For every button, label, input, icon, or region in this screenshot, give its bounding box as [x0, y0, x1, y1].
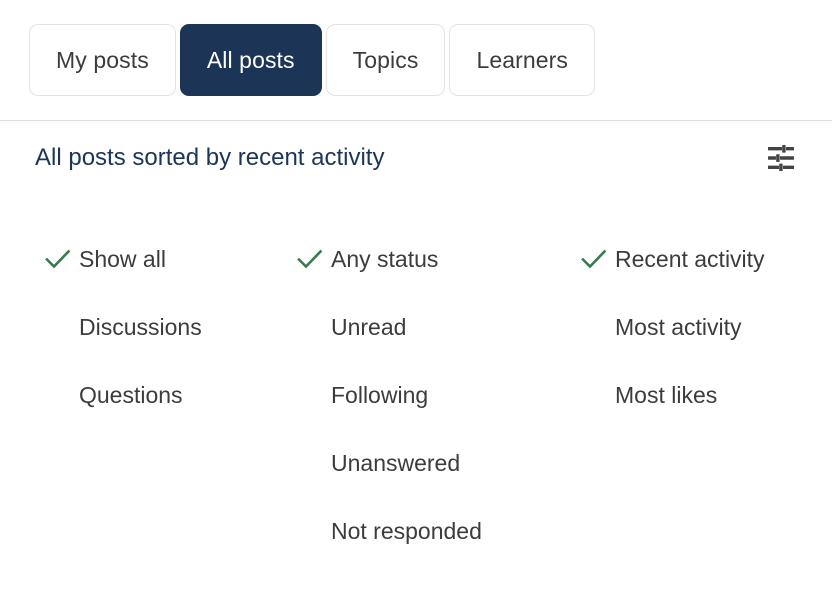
- tab-list: My postsAll postsTopicsLearners: [0, 0, 832, 96]
- filter-option-any-status[interactable]: Any status: [297, 225, 581, 293]
- tab-topics[interactable]: Topics: [326, 24, 446, 96]
- filter-option-label: Recent activity: [615, 248, 765, 271]
- check-icon: [45, 248, 79, 270]
- filter-panel-header: All posts sorted by recent activity: [0, 121, 832, 195]
- filter-option-label: Questions: [79, 384, 183, 407]
- tab-bar-divider: [0, 120, 832, 121]
- tab-my-posts[interactable]: My posts: [29, 24, 176, 96]
- check-icon: [581, 248, 615, 270]
- tab-learners[interactable]: Learners: [449, 24, 595, 96]
- filter-option-questions[interactable]: Questions: [45, 361, 297, 429]
- filter-column-post-type: Show allDiscussionsQuestions: [45, 225, 297, 565]
- filter-option-most-activity[interactable]: Most activity: [581, 293, 829, 361]
- filter-option-show-all[interactable]: Show all: [45, 225, 297, 293]
- tab-label: My posts: [56, 49, 149, 72]
- filter-column-sort: Recent activityMost activityMost likes: [581, 225, 829, 565]
- tab-all-posts[interactable]: All posts: [180, 24, 322, 96]
- filter-option-not-responded[interactable]: Not responded: [297, 497, 581, 565]
- filter-option-label: Unread: [331, 316, 406, 339]
- filter-option-following[interactable]: Following: [297, 361, 581, 429]
- filter-column-status: Any statusUnreadFollowingUnansweredNot r…: [297, 225, 581, 565]
- filter-option-most-likes[interactable]: Most likes: [581, 361, 829, 429]
- filter-option-label: Any status: [331, 248, 438, 271]
- filter-option-label: Discussions: [79, 316, 202, 339]
- filter-option-label: Unanswered: [331, 452, 460, 475]
- filter-option-label: Following: [331, 384, 428, 407]
- page-title: All posts sorted by recent activity: [35, 146, 384, 170]
- filter-option-discussions[interactable]: Discussions: [45, 293, 297, 361]
- filter-option-unanswered[interactable]: Unanswered: [297, 429, 581, 497]
- check-icon: [297, 248, 331, 270]
- tab-label: Topics: [353, 49, 419, 72]
- sliders-tune-icon[interactable]: [761, 138, 801, 178]
- filter-option-label: Most likes: [615, 384, 717, 407]
- filter-option-label: Not responded: [331, 520, 482, 543]
- filter-option-label: Show all: [79, 248, 166, 271]
- filter-option-recent-activity[interactable]: Recent activity: [581, 225, 829, 293]
- filter-options-grid: Show allDiscussionsQuestionsAny statusUn…: [0, 195, 832, 565]
- filter-option-unread[interactable]: Unread: [297, 293, 581, 361]
- tab-bar: My postsAll postsTopicsLearners: [0, 0, 832, 121]
- tab-label: Learners: [476, 49, 568, 72]
- tab-label: All posts: [207, 49, 295, 72]
- filter-option-label: Most activity: [615, 316, 742, 339]
